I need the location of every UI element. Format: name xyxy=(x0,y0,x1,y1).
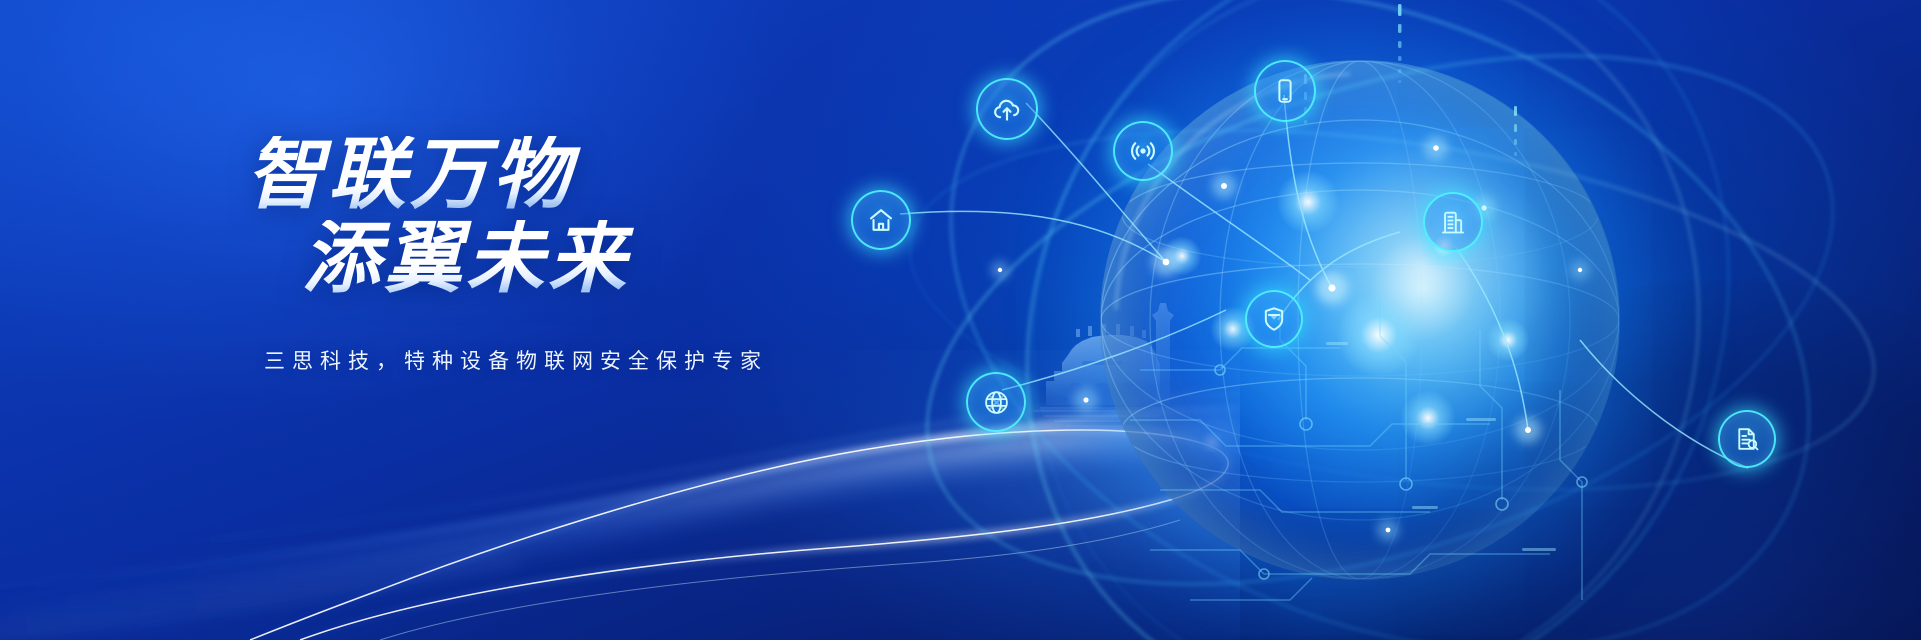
globe-world-icon-node[interactable] xyxy=(966,372,1026,432)
mobile-phone-icon xyxy=(1271,77,1299,105)
document-report-icon xyxy=(1733,425,1761,453)
globe-meridians xyxy=(1100,60,1620,580)
wifi-signal-icon-node[interactable] xyxy=(1113,121,1173,181)
hero-subtitle: 三思科技，特种设备物联网安全保护专家 xyxy=(264,345,946,375)
shield-icon-node[interactable] xyxy=(1245,290,1303,348)
building-icon xyxy=(1439,208,1467,236)
document-report-icon-node[interactable] xyxy=(1718,410,1776,468)
wifi-signal-icon xyxy=(1128,136,1158,166)
hero-copy-block: 智联万物 添翼未来 三思科技，特种设备物联网安全保护专家 xyxy=(246,136,946,375)
mobile-phone-icon-node[interactable] xyxy=(1254,60,1316,122)
hero-banner: 智联万物 添翼未来 三思科技，特种设备物联网安全保护专家 xyxy=(0,0,1921,640)
headline-line-1: 智联万物 xyxy=(246,136,946,212)
globe-world-icon xyxy=(982,388,1011,417)
building-icon-node[interactable] xyxy=(1423,192,1483,252)
light-trail-curves xyxy=(0,350,1240,640)
shield-icon xyxy=(1260,305,1288,333)
cloud-upload-icon-node[interactable] xyxy=(976,78,1038,140)
cloud-upload-icon xyxy=(992,94,1022,124)
headline-line-2: 添翼未来 xyxy=(302,220,946,296)
network-globe xyxy=(1100,60,1620,580)
